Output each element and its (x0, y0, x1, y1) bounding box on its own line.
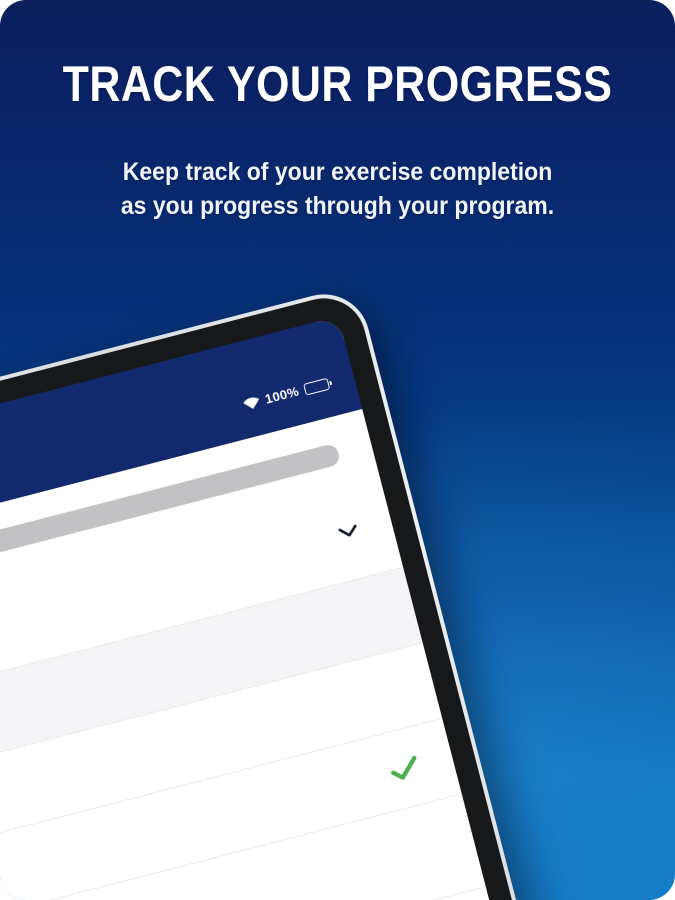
tablet-screen: gram 100% (0, 316, 551, 900)
promo-subtitle-line-1: Keep track of your exercise completion (27, 155, 648, 189)
status-bar: 100% (241, 376, 330, 413)
tablet-frame: gram 100% (0, 284, 582, 900)
wifi-icon (241, 395, 261, 412)
page-title: TRACK YOUR PROGRESS (47, 0, 628, 111)
battery-percent-label: 100% (263, 384, 300, 407)
promo-text-block: TRACK YOUR PROGRESS Keep track of your e… (0, 0, 675, 223)
promo-subtitle: Keep track of your exercise completion a… (27, 111, 648, 223)
promo-screenshot: gram 100% (0, 0, 675, 900)
tablet-mockup: gram 100% (0, 284, 582, 900)
promo-subtitle-line-2: as you progress through your program. (27, 189, 648, 223)
chevron-down-icon[interactable] (337, 523, 360, 541)
check-icon[interactable] (387, 753, 422, 784)
tablet-bezel: gram 100% (0, 289, 577, 900)
app-content (0, 409, 551, 900)
battery-icon (303, 377, 330, 395)
